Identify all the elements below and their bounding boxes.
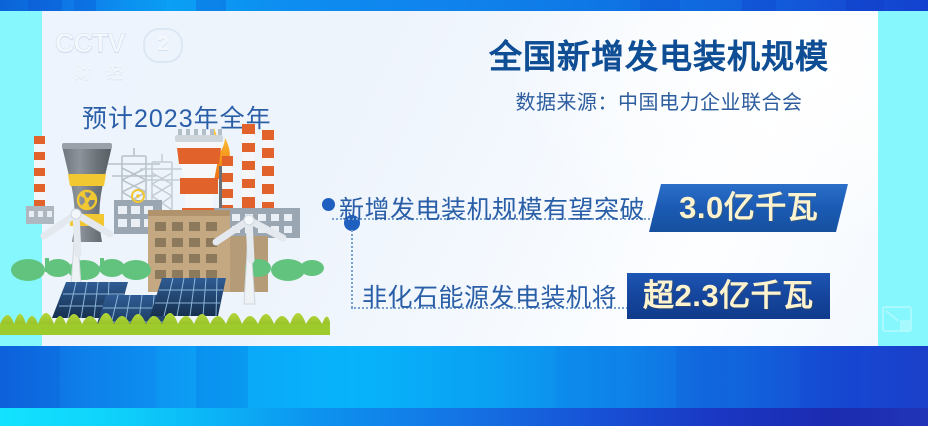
- cctv-channel-subtitle: 财经: [75, 59, 139, 83]
- row-label: 新增发电装机规模有望突破: [339, 190, 645, 226]
- cctv2-watermark: CCTV 2 财经: [55, 28, 195, 86]
- data-row: 新增发电装机规模有望突破 3.0亿千瓦: [339, 184, 842, 232]
- right-cyan-border: [878, 11, 928, 346]
- bottom-accent-bar: [0, 346, 928, 426]
- power-generation-illustration: [0, 118, 330, 335]
- smokestack-right-short: [262, 130, 274, 210]
- solar-panel: [150, 278, 226, 316]
- page-title: 全国新增发电装机规模: [456, 30, 862, 78]
- bottom-underline: [0, 408, 928, 426]
- data-source-subtitle: 数据来源：中国电力企业联合会: [456, 86, 862, 115]
- screen-share-icon: [878, 302, 916, 342]
- row-value: 3.0亿千瓦: [679, 192, 818, 223]
- smokestack-far-right: [222, 156, 233, 210]
- row-value-badge: 超2.3亿千瓦: [627, 273, 830, 319]
- header-block: 全国新增发电装机规模 数据来源：中国电力企业联合会: [456, 30, 862, 115]
- broadcast-screen: CCTV 2 财经 预计2023年全年 全国新增发电装机规模 数据来源：中国电力…: [0, 0, 928, 426]
- left-smokestack: [26, 136, 54, 224]
- data-row: 非化石能源发电装机将 超2.3亿千瓦: [362, 273, 830, 319]
- grass-base: [0, 324, 330, 335]
- connector-dot-primary: [322, 198, 335, 211]
- row-label: 非化石能源发电装机将: [362, 278, 617, 314]
- cctv-channel-number: 2: [143, 28, 183, 63]
- connector-line-vertical: [351, 230, 353, 308]
- row-value-badge: 3.0亿千瓦: [649, 184, 848, 232]
- smokestack-right-tall: [242, 124, 255, 210]
- top-accent-strip: [0, 0, 928, 11]
